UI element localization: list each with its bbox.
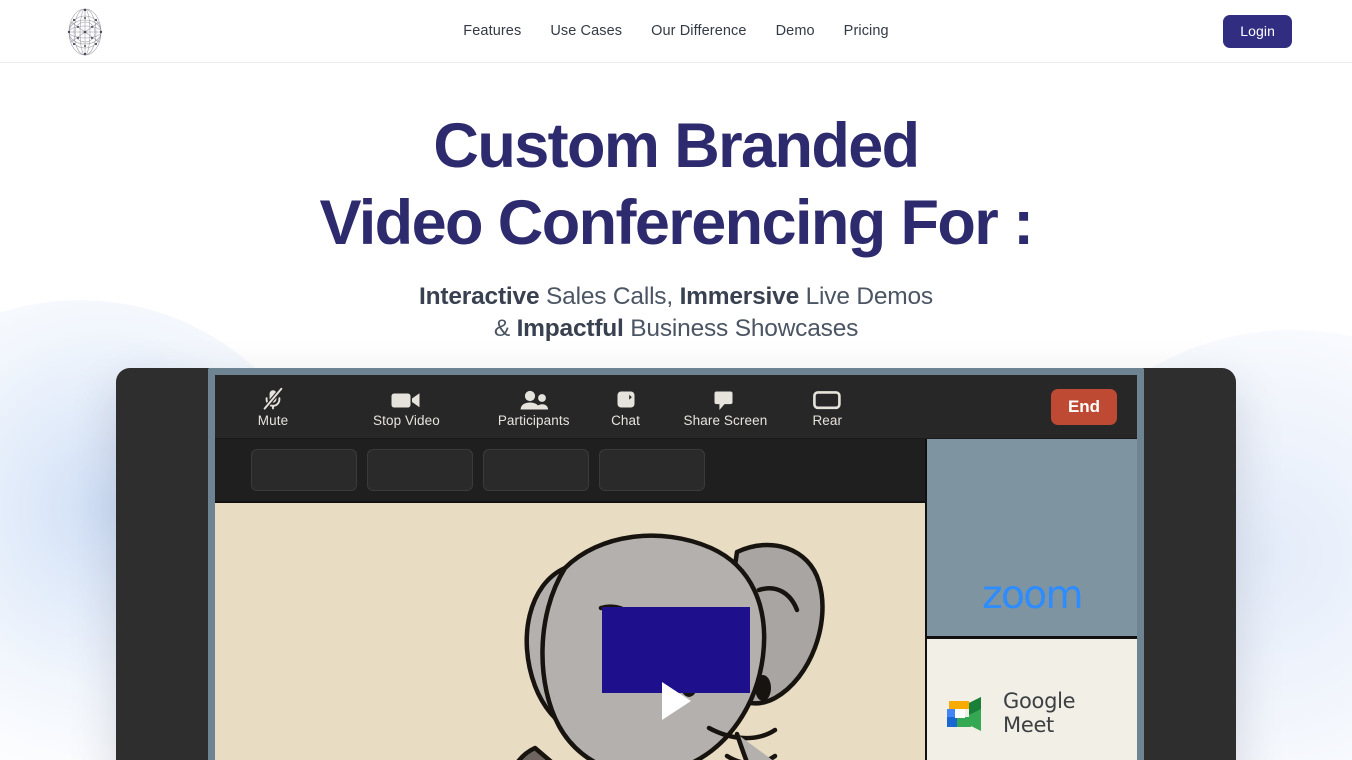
zoom-logo: zoom [982, 573, 1082, 618]
login-button[interactable]: Login [1223, 15, 1292, 48]
landing-page: Features Use Cases Our Difference Demo P… [0, 0, 1352, 760]
toolbar-button-rear[interactable]: Rear [799, 385, 855, 428]
participant-thumbnail[interactable] [251, 449, 357, 491]
site-header: Features Use Cases Our Difference Demo P… [0, 0, 1352, 63]
toolbar-label-participants: Participants [498, 413, 570, 428]
nav-link-our-difference[interactable]: Our Difference [651, 23, 746, 39]
toolbar-label-share-screen: Share Screen [684, 413, 768, 428]
toolbar-label-mute: Mute [258, 413, 288, 428]
google-meet-line-2: Meet [1003, 713, 1054, 737]
video-camera-icon [390, 385, 422, 411]
nav-link-demo[interactable]: Demo [776, 23, 815, 39]
play-video-button[interactable] [602, 607, 750, 693]
toolbar-button-stop-video[interactable]: Stop Video [373, 385, 440, 428]
participant-thumbnail[interactable] [367, 449, 473, 491]
end-call-button[interactable]: End [1051, 389, 1117, 425]
meeting-ui: Mute Stop Video [215, 375, 1137, 760]
toolbar-button-chat[interactable]: Chat [598, 385, 654, 428]
video-player-device: Mute Stop Video [116, 368, 1236, 760]
nav-link-pricing[interactable]: Pricing [844, 23, 889, 39]
video-screen: Mute Stop Video [208, 368, 1144, 760]
subhead-emphasis-immersive: Immersive [680, 283, 799, 310]
share-screen-icon [712, 385, 738, 411]
subhead-emphasis-impactful: Impactful [517, 315, 624, 342]
subhead-text-1: Sales Calls, [539, 283, 679, 310]
toolbar-label-stop-video: Stop Video [373, 413, 440, 428]
participant-thumbnail[interactable] [483, 449, 589, 491]
google-meet-line-1: Google [1003, 689, 1075, 713]
platform-logo-rail: zoom [925, 439, 1137, 760]
subhead-text-4: Business Showcases [624, 315, 859, 342]
rectangle-icon [812, 385, 842, 411]
headline-line-1: Custom Branded [433, 111, 918, 181]
toolbar-button-share-screen[interactable]: Share Screen [684, 385, 768, 428]
subhead-text-2: Live Demos [799, 283, 933, 310]
hero-subheading: Interactive Sales Calls, Immersive Live … [0, 281, 1352, 346]
google-meet-panel: Google Meet [927, 639, 1137, 760]
toolbar-button-participants[interactable]: Participants [498, 385, 570, 428]
meeting-toolbar: Mute Stop Video [215, 375, 1137, 439]
headline-line-2: Video Conferencing For : [0, 192, 1352, 255]
play-icon [656, 679, 696, 723]
nav-link-features[interactable]: Features [463, 23, 521, 39]
mic-muted-icon [260, 385, 286, 411]
subhead-emphasis-interactive: Interactive [419, 283, 539, 310]
chat-bubble-icon [615, 385, 637, 411]
zoom-panel: zoom [927, 439, 1137, 639]
subhead-line-2: & Impactful Business Showcases [0, 313, 1352, 345]
toolbar-label-chat: Chat [611, 413, 640, 428]
google-meet-wordmark: Google Meet [1003, 690, 1075, 737]
google-meet-icon [941, 688, 993, 739]
participant-thumbnail[interactable] [599, 449, 705, 491]
page-title: Custom Branded Video Conferencing For : [0, 115, 1352, 255]
toolbar-button-mute[interactable]: Mute [245, 385, 301, 428]
people-icon [518, 385, 550, 411]
subhead-text-3: & [494, 315, 517, 342]
nav-link-use-cases[interactable]: Use Cases [550, 23, 622, 39]
toolbar-label-rear: Rear [812, 413, 842, 428]
main-navigation: Features Use Cases Our Difference Demo P… [0, 0, 1352, 62]
hero-section: Custom Branded Video Conferencing For : … [0, 63, 1352, 346]
